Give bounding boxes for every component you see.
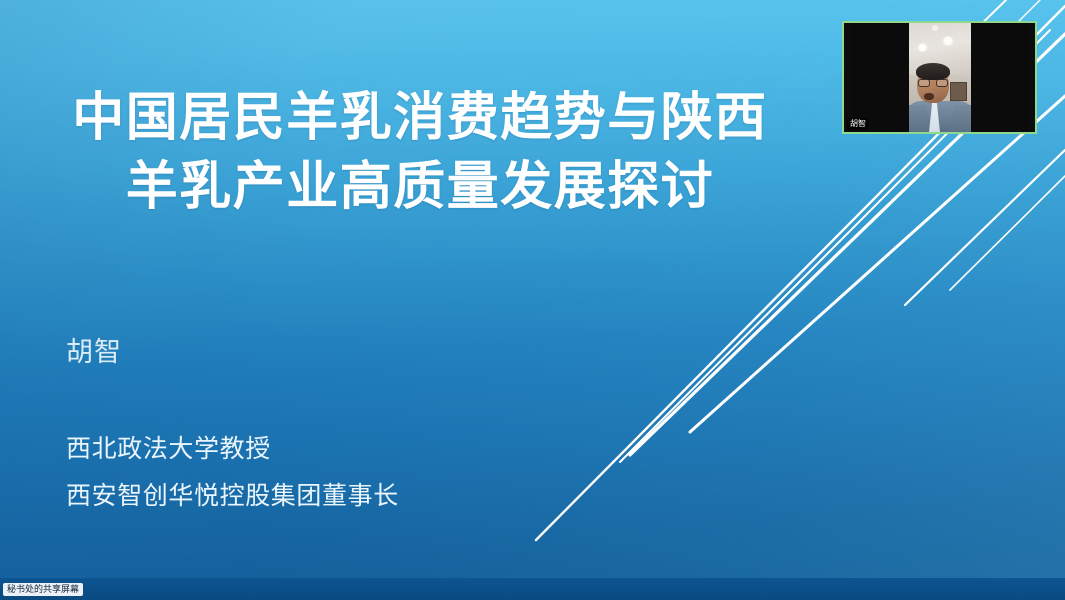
webcam-image [909, 23, 971, 132]
participant-video-tile[interactable]: 胡智 [842, 21, 1037, 134]
slide-title-line-1: 中国居民羊乳消费趋势与陕西 [0, 84, 840, 153]
glasses-icon [918, 79, 948, 87]
status-bar: 秘书处的共享屏幕 [0, 578, 1065, 600]
screen-share-label: 秘书处的共享屏幕 [3, 583, 83, 596]
person-hair [916, 63, 950, 80]
wall-picture-frame [950, 82, 967, 101]
slide-title-line-2: 羊乳产业高质量发展探讨 [0, 153, 840, 222]
speaker-name: 胡智 [66, 336, 399, 368]
speaker-roles: 西北政法大学教授 西安智创华悦控股集团董事长 [66, 426, 399, 519]
speaker-info: 胡智 西北政法大学教授 西安智创华悦控股集团董事长 [66, 336, 399, 519]
ceiling-light-icon [917, 43, 928, 52]
slide-title: 中国居民羊乳消费趋势与陕西 羊乳产业高质量发展探讨 [0, 84, 840, 221]
shared-screen-viewport: 中国居民羊乳消费趋势与陕西 羊乳产业高质量发展探讨 胡智 西北政法大学教授 西安… [0, 0, 1065, 600]
ceiling-light-icon [931, 25, 939, 31]
speaker-role-1: 西北政法大学教授 [66, 426, 399, 472]
speaker-role-2: 西安智创华悦控股集团董事长 [66, 473, 399, 519]
ceiling-light-icon [942, 36, 954, 46]
letterbox-bar-left [852, 23, 909, 132]
participant-name-badge: 胡智 [847, 118, 869, 130]
letterbox-bar-right [971, 23, 1028, 132]
video-stream [844, 23, 1035, 132]
person-mouth [924, 93, 934, 100]
